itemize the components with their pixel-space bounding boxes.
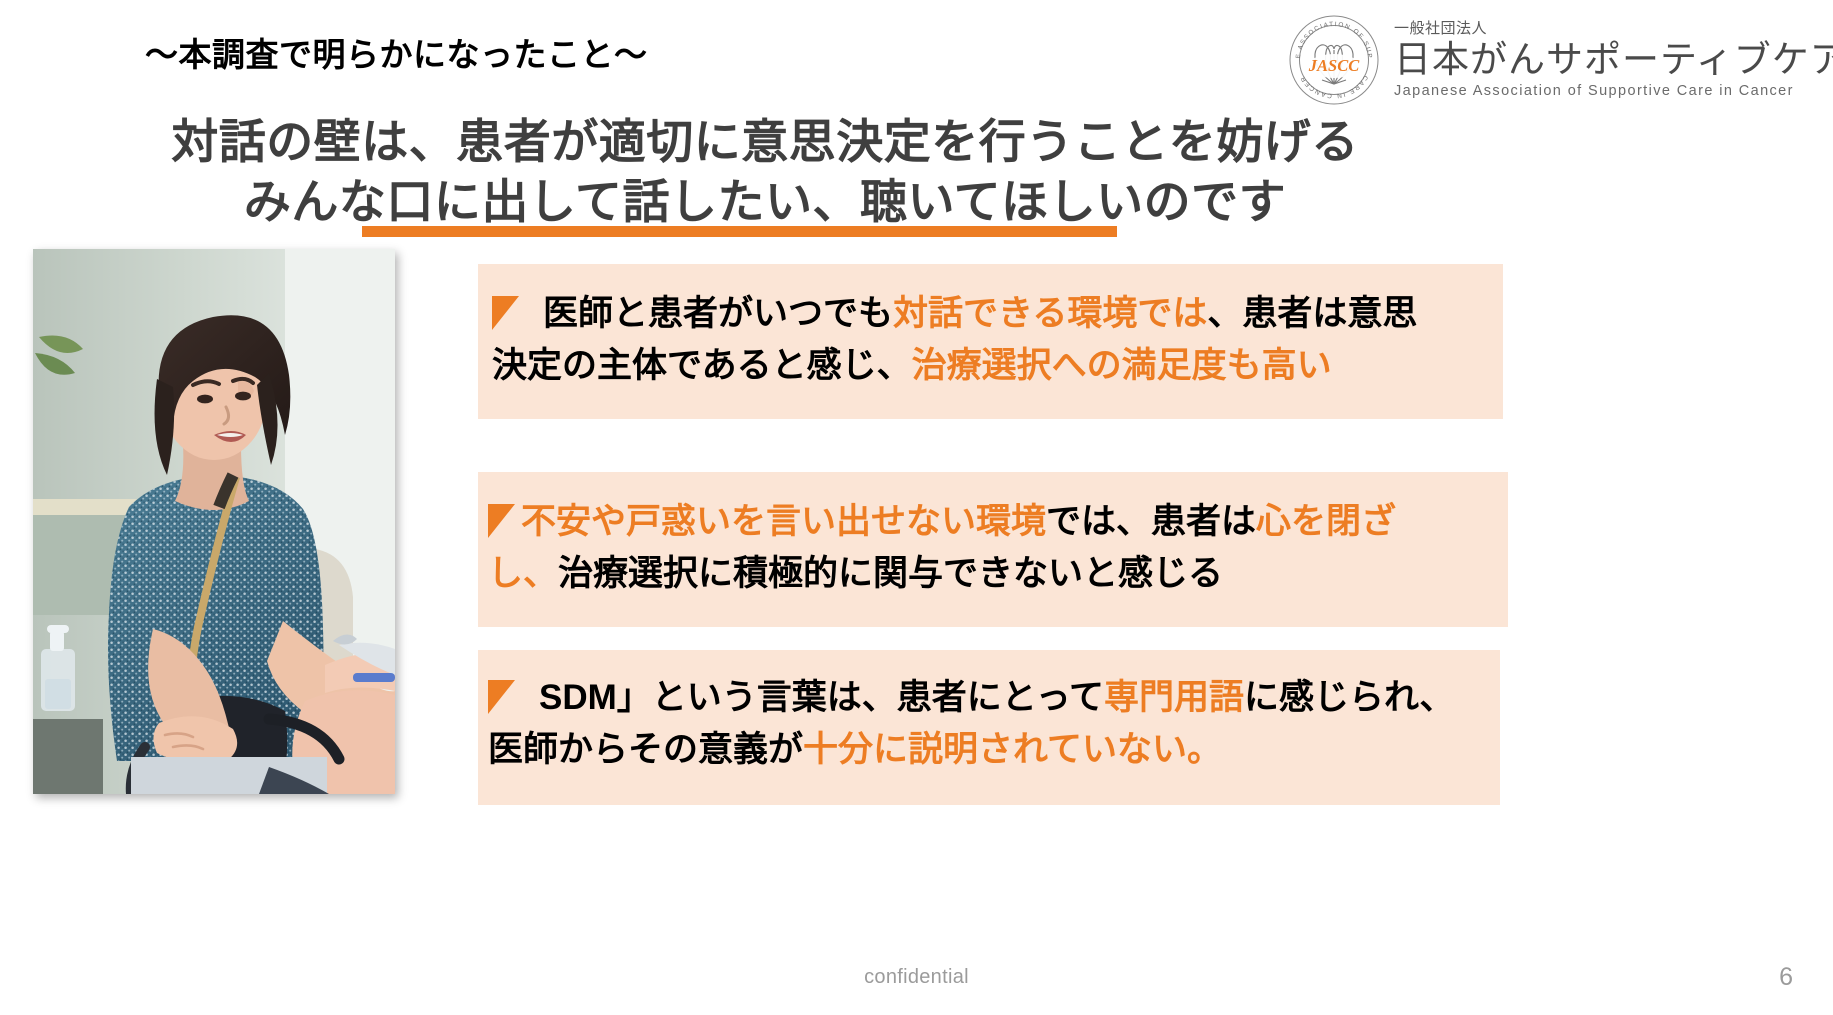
finding-box-3-line-1: SDM」という言葉は、患者にとって専門用語に感じられ、	[488, 672, 1486, 724]
finding-2-text-b: 治療選択に積極的に関与できないと感じる	[558, 554, 1223, 593]
finding-1-highlight-1: 対話できる環境では	[893, 294, 1207, 333]
logo-name-ja: 日本がんサポーティブケア学会	[1394, 41, 1833, 78]
title-underline-bar	[362, 226, 1117, 237]
finding-box-3-line-2: 医師からその意義が十分に説明されていない。	[488, 724, 1486, 776]
svg-text:JASCC: JASCC	[1308, 56, 1360, 75]
pennant-triangle-icon	[492, 296, 519, 330]
logo-text-block: 一般社団法人 日本がんサポーティブケア学会 Japanese Associati…	[1394, 21, 1833, 99]
finding-3-text-c: 医師からその意義が	[488, 730, 803, 769]
finding-box-3: SDM」という言葉は、患者にとって専門用語に感じられ、 医師からその意義が十分に…	[478, 650, 1500, 805]
finding-box-1-line-2: 決定の主体であると感じ、治療選択への満足度も高い	[492, 340, 1489, 392]
finding-box-1: 医師と患者がいつでも対話できる環境では、患者は意思 決定の主体であると感じ、治療…	[478, 264, 1503, 419]
pennant-triangle-icon	[488, 504, 515, 538]
finding-3-highlight-2: 十分に説明されていない。	[803, 730, 1222, 769]
finding-2-highlight-2: 心を閉ざ	[1256, 502, 1396, 541]
finding-2-text-a: では、患者は	[1046, 502, 1256, 541]
page-number: 6	[1779, 963, 1793, 992]
finding-box-2: 不安や戸惑いを言い出せない環境では、患者は心を閉ざ し、治療選択に積極的に関与で…	[478, 472, 1508, 627]
confidential-label: confidential	[0, 966, 1833, 989]
patient-consultation-photo	[33, 249, 395, 794]
jascc-logo: JAPANESE ASSOCIATION OF SUPPORTIVE CARE …	[1288, 14, 1833, 106]
section-kicker: 〜本調査で明らかになったこと〜	[145, 28, 648, 76]
finding-2-highlight-1: 不安や戸惑いを言い出せない環境	[521, 502, 1046, 541]
slide-canvas: 〜本調査で明らかになったこと〜 JAPANESE ASSOCIATION OF …	[0, 0, 1833, 1015]
finding-box-2-line-2: し、治療選択に積極的に関与できないと感じる	[488, 548, 1494, 600]
title-line-1: 対話の壁は、患者が適切に意思決定を行うことを妨げる	[150, 112, 1380, 172]
finding-3-highlight-1: 専門用語	[1104, 678, 1244, 717]
page-title: 対話の壁は、患者が適切に意思決定を行うことを妨げる みんな口に出して話したい、聴…	[150, 112, 1380, 232]
pennant-triangle-icon	[488, 680, 515, 714]
finding-1-text-c: 決定の主体であると感じ、	[492, 346, 912, 385]
finding-box-2-line-1: 不安や戸惑いを言い出せない環境では、患者は心を閉ざ	[488, 496, 1494, 548]
finding-2-highlight-3: し、	[488, 554, 558, 593]
title-line-2: みんな口に出して話したい、聴いてほしいのです	[150, 172, 1380, 232]
finding-box-1-line-1: 医師と患者がいつでも対話できる環境では、患者は意思	[492, 288, 1489, 340]
jascc-emblem-icon: JAPANESE ASSOCIATION OF SUPPORTIVE CARE …	[1288, 14, 1380, 106]
logo-name-en: Japanese Association of Supportive Care …	[1394, 84, 1833, 99]
finding-1-highlight-2: 治療選択への満足度も高い	[912, 346, 1332, 385]
finding-3-text-a: SDM」という言葉は、患者にとって	[539, 678, 1104, 717]
finding-1-text-a: 医師と患者がいつでも	[543, 294, 893, 333]
finding-1-text-b: 、患者は意思	[1207, 294, 1417, 333]
finding-3-text-b: に感じられ、	[1244, 678, 1454, 717]
logo-corp-type: 一般社団法人	[1394, 21, 1833, 36]
